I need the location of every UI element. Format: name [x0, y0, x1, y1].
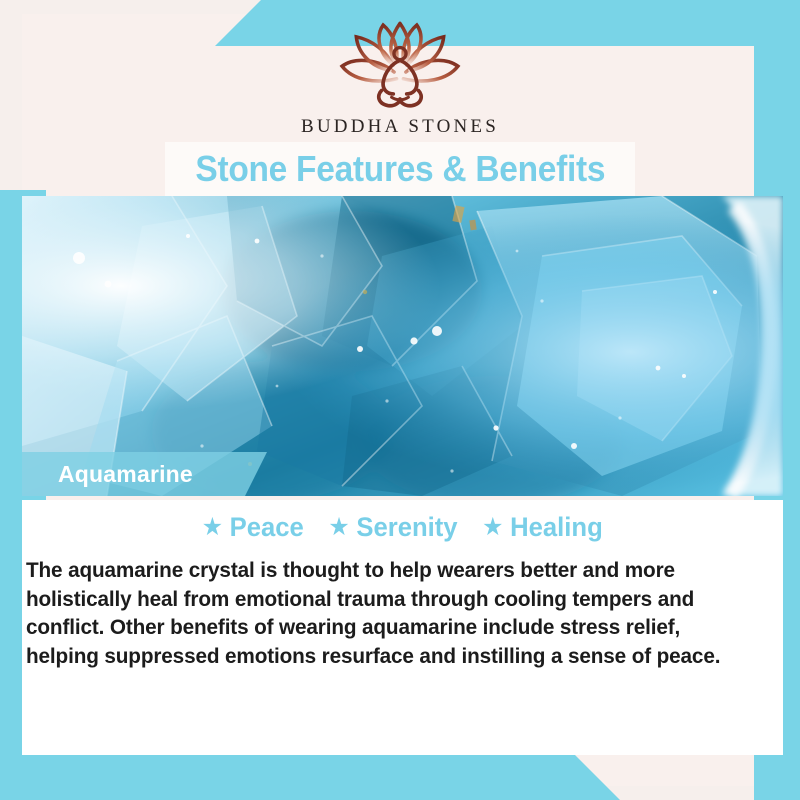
keyword-list: ★ Peace ★ Serenity ★ Healing: [22, 512, 783, 543]
keyword-label: Healing: [510, 512, 603, 543]
keyword-item-healing: ★ Healing: [482, 512, 603, 543]
keyword-label: Serenity: [356, 512, 457, 543]
keyword-label: Peace: [230, 512, 304, 543]
star-icon: ★: [202, 515, 223, 540]
page-title: Stone Features & Benefits: [195, 151, 605, 187]
stone-name: Aquamarine: [58, 461, 193, 488]
decor-band-bottom: [0, 754, 620, 800]
infographic-canvas: BUDDHA STONES Stone Features & Benefits: [0, 0, 800, 800]
title-panel: Stone Features & Benefits: [165, 142, 635, 196]
brand-wordmark: BUDDHA STONES: [301, 116, 499, 138]
description-text: The aquamarine crystal is thought to hel…: [26, 556, 742, 670]
lotus-meditating-figure-icon: [316, 20, 484, 112]
star-icon: ★: [328, 515, 349, 540]
description-block: The aquamarine crystal is thought to hel…: [26, 556, 768, 670]
brand-logo: BUDDHA STONES: [0, 20, 800, 138]
star-icon: ★: [482, 515, 503, 540]
keyword-item-serenity: ★ Serenity: [328, 512, 457, 543]
stone-name-ribbon: Aquamarine: [22, 452, 267, 496]
keyword-item-peace: ★ Peace: [202, 512, 304, 543]
hero-image: [22, 196, 783, 496]
